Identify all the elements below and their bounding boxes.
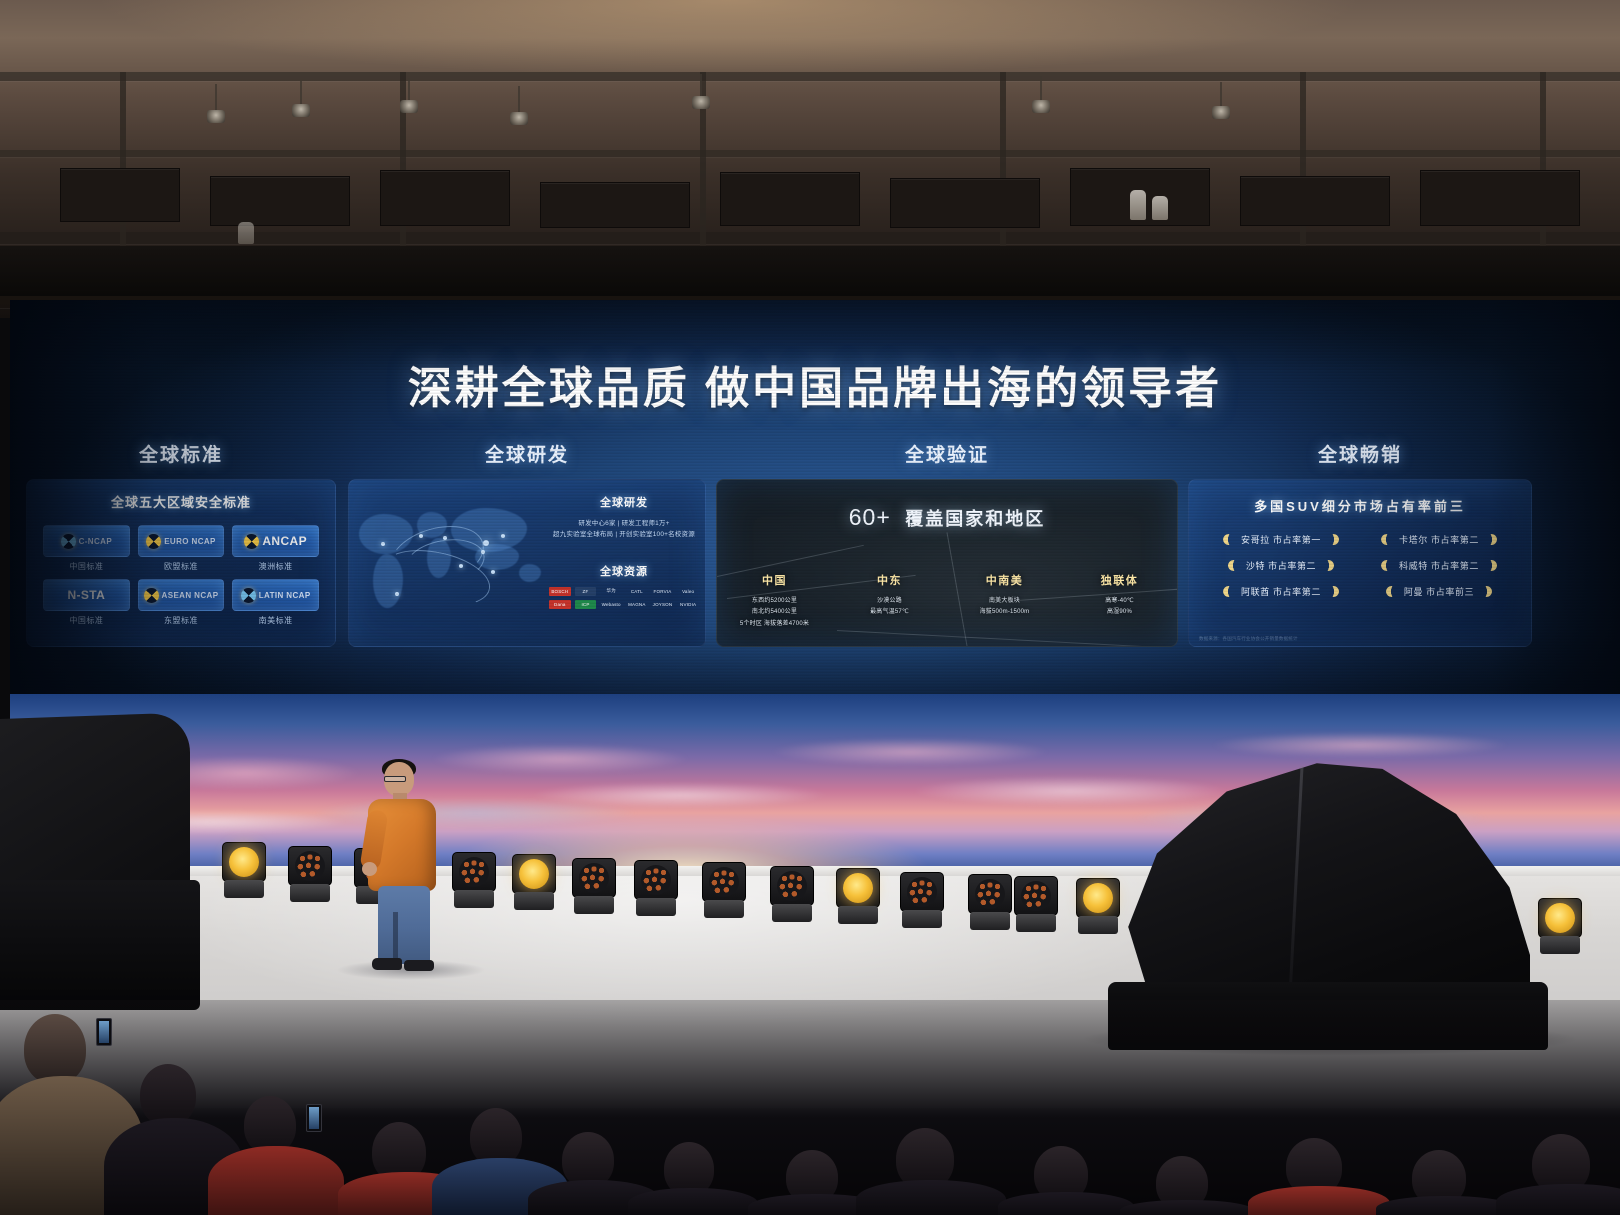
region-detail: 最高气温57℃	[832, 607, 947, 618]
badge-cell: C-NCAP 中国标准	[43, 525, 130, 572]
badge-ancap: ANCAP	[232, 525, 319, 557]
laurel-left-icon	[1223, 586, 1234, 597]
stage-light	[968, 874, 1012, 930]
ranking-label: 科威特 市占率第二	[1399, 559, 1479, 572]
column-header-global-standard: 全球标准	[26, 440, 336, 467]
ranking-item-saudi: 沙特 市占率第二	[1207, 559, 1355, 572]
slide-title: 深耕全球品质 做中国品牌出海的领导者	[10, 352, 1620, 416]
badge-cell: LATIN NCAP 南美标准	[232, 579, 319, 626]
laurel-right-icon	[1481, 586, 1492, 597]
card-global-validation: 60+ 覆盖国家和地区 中国 东西约5200公里 南北约5400公里 5个时区 …	[716, 479, 1178, 647]
ceiling-spotlight	[1032, 100, 1050, 113]
stage-light	[900, 872, 944, 928]
ceiling-warm-glow	[0, 0, 1620, 120]
ranking-item-oman: 阿曼 市占率前三	[1365, 585, 1513, 598]
column-global-rd: 全球研发	[348, 440, 706, 647]
rd-line-1: 研发中心6家 | 研发工程师1万+	[549, 518, 699, 529]
partner-logo: ICP	[575, 600, 597, 609]
presenter-glasses	[384, 776, 406, 782]
crash-test-icon	[241, 588, 256, 603]
ranking-item-qatar: 卡塔尔 市占率第二	[1365, 533, 1513, 546]
region-cis: 独联体 高寒-40℃ 高湿90%	[1062, 572, 1177, 630]
ceiling-beam-box	[380, 170, 510, 226]
ranking-item-uae: 阿联酋 市占率第二	[1207, 585, 1355, 598]
badge-latin-ncap: LATIN NCAP	[232, 579, 319, 611]
stage-light	[1014, 876, 1058, 932]
crew-member	[1130, 190, 1146, 220]
stage-light	[634, 860, 678, 916]
ranking-label: 阿曼 市占率前三	[1404, 585, 1474, 598]
slide-columns: 全球标准 全球五大区域安全标准 C-NCAP 中国标准	[10, 440, 1620, 690]
crew-member	[1152, 196, 1168, 220]
ranking-label: 沙特 市占率第二	[1246, 559, 1316, 572]
rd-text-block: 全球研发 研发中心6家 | 研发工程师1万+ 超九实验室全球布局 | 开创实验室…	[549, 494, 699, 609]
column-header-global-sales: 全球畅销	[1188, 440, 1532, 467]
rd-line-2: 超九实验室全球布局 | 开创实验室100+名校资源	[549, 529, 699, 540]
market-ranking-grid: 安哥拉 市占率第一 卡塔尔 市占率第二 沙特 市占率第二	[1189, 533, 1531, 598]
laurel-right-icon	[1486, 534, 1497, 545]
stage-light	[1538, 898, 1582, 954]
led-presentation-screen: 深耕全球品质 做中国品牌出海的领导者 全球标准 全球五大区域安全标准 C-NCA…	[10, 300, 1620, 700]
badge-name: LATIN NCAP	[259, 591, 311, 600]
presenter-jeans	[378, 886, 430, 964]
world-map-graphic	[355, 492, 545, 642]
ranking-label: 卡塔尔 市占率第二	[1399, 533, 1479, 546]
ceiling-truss	[0, 0, 1620, 318]
badge-label: 东盟标准	[138, 615, 225, 626]
stage-light	[770, 866, 814, 922]
column-header-global-rd: 全球研发	[348, 440, 706, 467]
badge-cell: ASEAN NCAP 东盟标准	[138, 579, 225, 626]
region-detail: 东西约5200公里	[717, 596, 832, 607]
badge-euro-ncap: EURO NCAP	[138, 525, 225, 557]
badge-label: 中国标准	[43, 615, 130, 626]
card-title-market-share: 多国SUV细分市场占有率前三	[1189, 496, 1531, 515]
crash-test-icon	[244, 534, 259, 549]
partner-logo: JOYSON	[652, 600, 674, 609]
laurel-left-icon	[1386, 586, 1397, 597]
coverage-headline: 60+ 覆盖国家和地区	[717, 504, 1177, 531]
partner-logo: BOSCH	[549, 587, 571, 596]
ceiling-beam-box	[890, 178, 1040, 228]
coverage-number: 60+	[849, 504, 891, 530]
resource-title: 全球资源	[549, 563, 699, 579]
region-middle-east: 中东 沙漠公路 最高气温57℃	[832, 572, 947, 630]
laurel-left-icon	[1381, 560, 1392, 571]
laurel-left-icon	[1381, 534, 1392, 545]
column-global-validation: 全球验证 60+ 覆盖国家和地区 中国 东西约5200公里	[716, 440, 1178, 647]
region-detail: 5个时区 海拔落差4700米	[717, 619, 832, 630]
light-hanger	[300, 80, 302, 106]
partner-logo: NVIDIA	[677, 600, 699, 609]
laurel-right-icon	[1486, 560, 1497, 571]
badge-name: C-NCAP	[79, 537, 113, 546]
audience-phone	[306, 1104, 322, 1132]
card-global-standard: 全球五大区域安全标准 C-NCAP 中国标准	[26, 479, 336, 647]
ceiling-beam-box	[60, 168, 180, 222]
region-latin-america: 中南美 南美大板块 海拔500m-1500m	[947, 572, 1062, 630]
audience-silhouettes	[0, 1000, 1620, 1215]
audience-shoulders	[1120, 1200, 1254, 1215]
stage-light	[512, 854, 556, 910]
light-hanger	[215, 84, 217, 112]
region-name: 中南美	[947, 572, 1062, 588]
badge-name: N-STA	[67, 588, 105, 602]
card-title-safety-standards: 全球五大区域安全标准	[37, 492, 325, 511]
partner-logo: Valeo	[677, 587, 699, 596]
audience-shoulders	[1248, 1186, 1390, 1215]
coverage-label: 覆盖国家和地区	[905, 509, 1045, 529]
audience-shoulders	[208, 1146, 344, 1215]
light-hanger	[1040, 76, 1042, 102]
region-detail: 高寒-40℃	[1062, 596, 1177, 607]
partner-logo: Webasto	[600, 600, 622, 609]
ceiling-spotlight	[510, 112, 528, 125]
ceiling-spotlight	[692, 96, 710, 109]
badge-asean-ncap: ASEAN NCAP	[138, 579, 225, 611]
partner-logo: 华为	[600, 587, 622, 596]
partner-logo: MAGNA	[626, 600, 648, 609]
ranking-item-kuwait: 科威特 市占率第二	[1365, 559, 1513, 572]
ceiling-spotlight	[292, 104, 310, 117]
ceiling-beam-box	[210, 176, 350, 226]
region-name: 中国	[717, 572, 832, 588]
crash-test-icon	[61, 534, 76, 549]
stage-light	[836, 868, 880, 924]
region-name: 独联体	[1062, 572, 1177, 588]
badge-label: 欧盟标准	[138, 561, 225, 572]
audience-shoulders	[1376, 1196, 1516, 1215]
region-name: 中东	[832, 572, 947, 588]
badge-c-ncap: C-NCAP	[43, 525, 130, 557]
truss-beam	[0, 72, 1620, 81]
partner-logo: ZF	[575, 587, 597, 596]
stage-light	[572, 858, 616, 914]
crash-test-icon	[146, 534, 161, 549]
audience-shoulders	[856, 1180, 1006, 1215]
light-hanger	[700, 74, 702, 98]
region-row: 中国 东西约5200公里 南北约5400公里 5个时区 海拔落差4700米 中东…	[717, 572, 1177, 630]
column-header-global-validation: 全球验证	[716, 440, 1178, 467]
badge-label: 澳洲标准	[232, 561, 319, 572]
badge-label: 南美标准	[232, 615, 319, 626]
partner-logo: Dana	[549, 600, 571, 609]
partner-logo: CATL	[626, 587, 648, 596]
column-global-sales: 全球畅销 多国SUV细分市场占有率前三 安哥拉 市占率第一 卡塔尔 市占率第二	[1188, 440, 1532, 647]
card-global-sales: 多国SUV细分市场占有率前三 安哥拉 市占率第一 卡塔尔 市占率第二	[1188, 479, 1532, 647]
ceiling-spotlight	[207, 110, 225, 123]
badge-name: ASEAN NCAP	[162, 591, 219, 600]
stage-light	[702, 862, 746, 918]
laurel-left-icon	[1228, 560, 1239, 571]
laurel-right-icon	[1328, 586, 1339, 597]
stage-riser-left	[0, 880, 200, 1010]
ceiling-beam-box	[540, 182, 690, 228]
safety-badge-grid: C-NCAP 中国标准 EURO NCAP 欧盟标准	[37, 525, 325, 626]
stage-light	[288, 846, 332, 902]
ranking-item-angola: 安哥拉 市占率第一	[1207, 533, 1355, 546]
partner-logo: FORVIA	[652, 587, 674, 596]
audience-head	[24, 1014, 86, 1084]
laurel-right-icon	[1328, 534, 1339, 545]
column-global-standard: 全球标准 全球五大区域安全标准 C-NCAP 中国标准	[26, 440, 336, 647]
badge-name: ANCAP	[262, 534, 307, 548]
badge-cell: EURO NCAP 欧盟标准	[138, 525, 225, 572]
ceiling-spotlight	[1212, 106, 1230, 119]
badge-name: EURO NCAP	[164, 537, 216, 546]
region-china: 中国 东西约5200公里 南北约5400公里 5个时区 海拔落差4700米	[717, 572, 832, 630]
stage-light	[452, 852, 496, 908]
audience-phone	[96, 1018, 112, 1046]
presenter-leg-gap	[393, 912, 398, 964]
crew-member	[238, 222, 254, 244]
region-detail: 南美大板块	[947, 596, 1062, 607]
audience-head	[140, 1064, 196, 1126]
region-detail: 海拔500m-1500m	[947, 607, 1062, 618]
region-detail: 高湿90%	[1062, 607, 1177, 618]
light-hanger	[1220, 82, 1222, 108]
region-detail: 沙漠公路	[832, 596, 947, 607]
ranking-label: 安哥拉 市占率第一	[1241, 533, 1321, 546]
audience-shoulders	[998, 1192, 1134, 1215]
badge-n-sta: N-STA	[43, 579, 130, 611]
stage-light	[1076, 878, 1120, 934]
badge-cell: ANCAP 澳洲标准	[232, 525, 319, 572]
card-global-rd: 全球研发 研发中心6家 | 研发工程师1万+ 超九实验室全球布局 | 开创实验室…	[348, 479, 706, 647]
audience-shoulders	[628, 1188, 758, 1215]
light-hanger	[518, 86, 520, 114]
ceiling-beam-box	[1420, 170, 1580, 226]
footnote-data-source: 数据来源：各国汽车行业协会公开销量数据统计	[1199, 636, 1298, 642]
crash-test-icon	[144, 588, 159, 603]
event-stage-scene: 深耕全球品质 做中国品牌出海的领导者 全球标准 全球五大区域安全标准 C-NCA…	[0, 0, 1620, 1215]
badge-cell: N-STA 中国标准	[43, 579, 130, 626]
ceiling-spotlight	[400, 100, 418, 113]
laurel-left-icon	[1223, 534, 1234, 545]
rd-title: 全球研发	[549, 494, 699, 510]
ceiling-beam-box	[1240, 176, 1390, 226]
presenter-shoe	[404, 960, 434, 971]
presenter-shoe	[372, 958, 402, 970]
presenter-figure	[360, 762, 444, 974]
light-hanger	[408, 78, 410, 102]
ceiling-beam-box	[720, 172, 860, 226]
partner-logo-grid: BOSCH ZF 华为 CATL FORVIA Valeo Dana ICP W…	[549, 587, 699, 609]
stage-light	[222, 842, 266, 898]
presenter-hand	[362, 862, 377, 876]
ceiling-dark-band	[0, 246, 1620, 296]
truss-beam	[0, 150, 1620, 157]
badge-label: 中国标准	[43, 561, 130, 572]
region-detail: 南北约5400公里	[717, 607, 832, 618]
laurel-right-icon	[1323, 560, 1334, 571]
ranking-label: 阿联酋 市占率第二	[1241, 585, 1321, 598]
